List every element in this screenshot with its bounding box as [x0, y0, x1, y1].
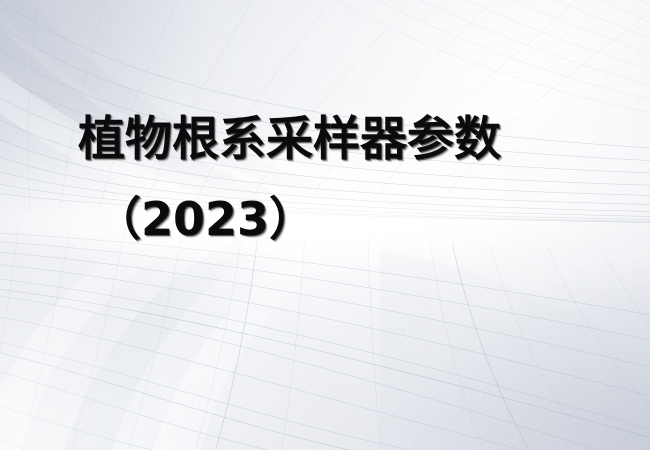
presentation-slide: 植物根系采样器参数 （2023） — [0, 0, 650, 450]
slide-title-line-1: 植物根系采样器参数 — [0, 112, 650, 168]
title-block: 植物根系采样器参数 （2023） — [0, 112, 650, 246]
slide-title-line-2: （2023） — [0, 168, 650, 246]
